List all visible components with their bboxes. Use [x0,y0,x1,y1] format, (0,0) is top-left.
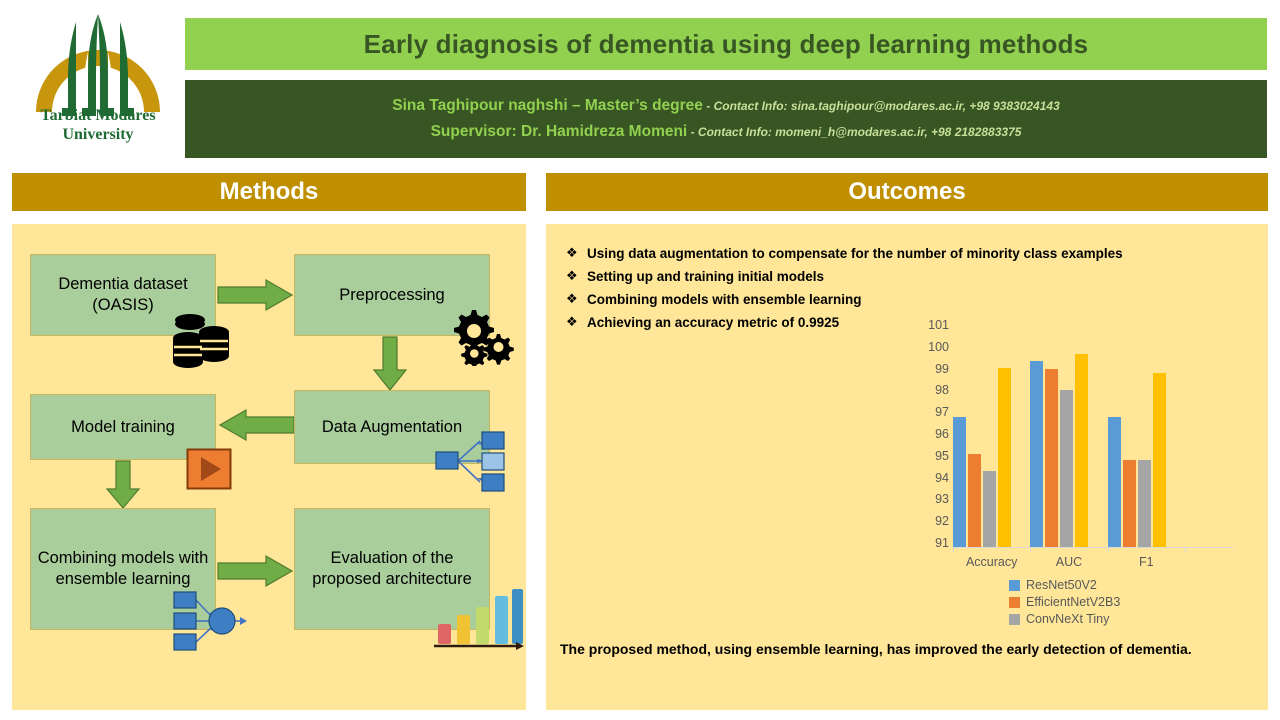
chart-bar [1060,390,1073,547]
supervisor-contact-rest: @modares.ac.ir, +98 2182883375 [835,125,1021,139]
chart-y-tick: 97 [905,406,949,418]
chart-y-tick: 101 [905,319,949,331]
chart-bar [983,471,996,547]
legend-color-swatch [1009,580,1020,591]
arrow-combining-to-evaluation [216,554,296,588]
chart-x-tick-mark [1108,547,1109,552]
chart-y-tick: 92 [905,515,949,527]
legend-color-swatch [1009,614,1020,625]
chart-legend-item[interactable]: ResNet50V2 [1009,578,1120,592]
university-name-line2: University [18,125,178,144]
arrow-training-to-combining [105,460,141,510]
bullet-text: Using data augmentation to compensate fo… [587,244,1123,263]
chart-bar [1153,373,1166,547]
logo-arch-shape [36,50,160,112]
bullet-text: Setting up and training initial models [587,267,824,286]
poster-title: Early diagnosis of dementia using deep l… [364,29,1089,60]
bullet-text: Combining models with ensemble learning [587,290,862,309]
authors-bar: Sina Taghipour naghshi – Master’s degree… [185,80,1267,158]
chart-x-tick-mark [953,547,954,552]
chart-y-tick: 91 [905,537,949,549]
chart-x-tick-mark [1030,547,1031,552]
chart-bar [953,417,966,547]
diamond-bullet-icon: ❖ [566,267,578,286]
author-line: Sina Taghipour naghshi – Master’s degree… [392,97,1060,115]
chart-x-label: Accuracy [953,555,1030,569]
university-logo: Tarbiat Modares University [18,8,178,163]
database-stack-icon [168,312,236,370]
diamond-bullet-icon: ❖ [566,244,578,263]
university-logo-text: Tarbiat Modares University [18,106,178,144]
chart-y-tick: 98 [905,384,949,396]
chart-bar [998,368,1011,547]
poster-root: Tarbiat Modares University Early diagnos… [0,0,1280,720]
data-augmentation-tree-icon [430,428,506,494]
arrow-preprocessing-to-augmentation [372,336,408,392]
outcomes-section-title: Outcomes [848,178,965,206]
arrow-dataset-to-preprocessing [216,278,296,312]
legend-label: ResNet50V2 [1026,578,1097,592]
chart-x-label: AUC [1030,555,1107,569]
conclusion-text: The proposed method, using ensemble lear… [560,638,1260,661]
chart-x-tick-labels: AccuracyAUCF1 [953,555,1233,573]
chart-y-tick: 100 [905,341,949,353]
list-item: ❖ Setting up and training initial models [566,267,1256,286]
methods-section-title: Methods [220,178,319,206]
legend-color-swatch [1009,597,1020,608]
results-bar-chart: 101100999897969594939291 AccuracyAUCF1 R… [905,325,1235,635]
chart-x-tick-mark [1185,547,1186,552]
legend-label: EfficientNetV2B3 [1026,595,1120,609]
author-name: Sina Taghipour naghshi – Master’s degree [392,97,703,114]
author-contact-rest: @modares.ac.ir, +98 9383024143 [874,99,1060,113]
chart-y-tick: 95 [905,450,949,462]
gears-icon [452,306,514,366]
bar-chart-growth-icon [432,582,524,650]
chart-legend-item[interactable]: ConvNeXt Tiny [1009,612,1120,626]
poster-header: Tarbiat Modares University Early diagnos… [0,0,1280,168]
chart-y-axis: 101100999897969594939291 [905,325,949,547]
chart-x-label: F1 [1108,555,1185,569]
chart-legend: ResNet50V2EfficientNetV2B3ConvNeXt Tiny [1009,578,1120,629]
diamond-bullet-icon: ❖ [566,313,578,332]
chart-bar [1123,460,1136,547]
chart-bar [968,454,981,547]
chart-y-tick: 93 [905,493,949,505]
chart-x-axis-line [953,547,1233,548]
chart-bar [1030,361,1043,547]
chart-bars [953,329,1185,547]
bullet-text: Achieving an accuracy metric of 0.9925 [587,313,839,332]
arrow-augmentation-to-training [216,408,296,442]
university-name-line1: Tarbiat Modares [18,106,178,125]
list-item: ❖ Using data augmentation to compensate … [566,244,1256,263]
chart-bar-group [953,329,1030,547]
supervisor-line: Supervisor: Dr. Hamidreza Momeni - Conta… [431,123,1022,141]
supervisor-name: Supervisor: Dr. Hamidreza Momeni [431,123,688,140]
diamond-bullet-icon: ❖ [566,290,578,309]
ensemble-merge-icon [170,590,254,654]
legend-label: ConvNeXt Tiny [1026,612,1109,626]
chart-bar [1045,369,1058,547]
supervisor-contact-label: - Contact Info: momeni_h [687,125,835,139]
chart-y-tick: 99 [905,363,949,375]
list-item: ❖ Combining models with ensemble learnin… [566,290,1256,309]
chart-plot-area [953,329,1185,547]
chart-y-tick: 94 [905,472,949,484]
chart-bar [1138,460,1151,547]
chart-bar-group [1030,329,1107,547]
play-button-icon[interactable] [186,448,232,490]
chart-bar-group [1108,329,1185,547]
outcomes-section-header: Outcomes [546,173,1268,211]
author-contact-label: - Contact Info: sina.taghipour [703,99,874,113]
chart-y-tick: 96 [905,428,949,440]
chart-legend-item[interactable]: EfficientNetV2B3 [1009,595,1120,609]
poster-title-bar: Early diagnosis of dementia using deep l… [185,18,1267,70]
chart-bar [1075,354,1088,547]
chart-bar [1108,417,1121,547]
methods-section-header: Methods [12,173,526,211]
